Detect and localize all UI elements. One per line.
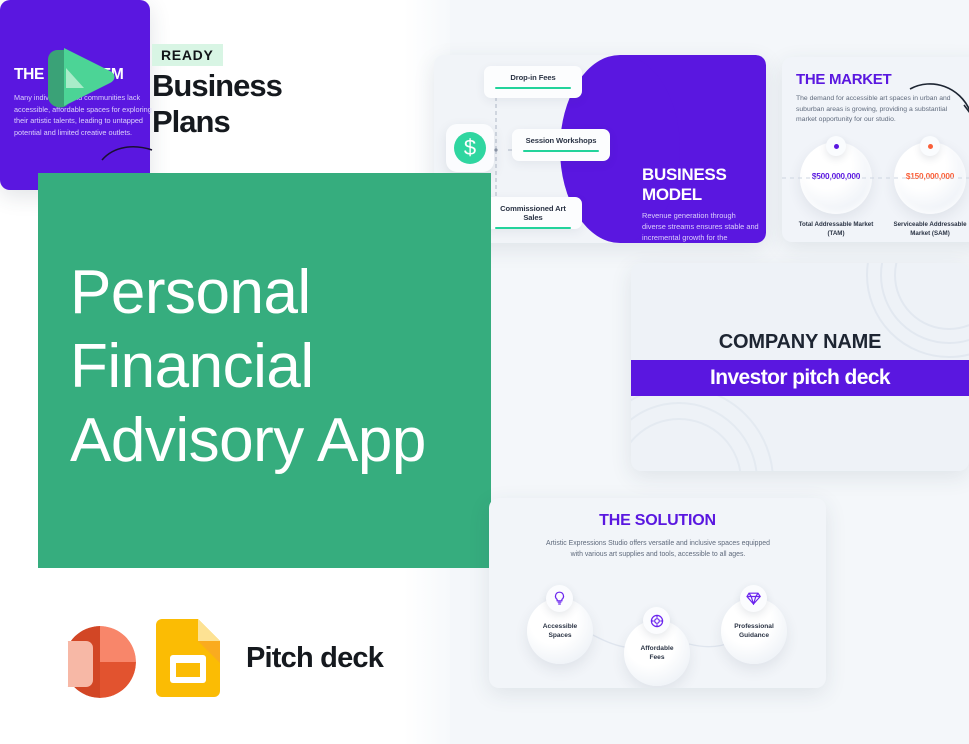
curved-arrow-icon — [908, 75, 969, 125]
business-model-item[interactable]: Session Workshops — [512, 129, 610, 161]
powerpoint-icon[interactable]: P — [42, 614, 134, 702]
underline-bar — [523, 150, 599, 152]
brand-logo[interactable]: READY Business Plans — [40, 36, 340, 120]
slide-solution[interactable]: THE SOLUTION Artistic Expressions Studio… — [489, 498, 826, 688]
format-label: Pitch deck — [246, 642, 383, 675]
node-label: Affordable Fees — [641, 644, 674, 663]
dollar-icon: $ — [454, 132, 486, 164]
solution-node-accessible-spaces[interactable]: Accessible Spaces — [527, 598, 593, 664]
slide-market[interactable]: THE MARKET The demand for accessible art… — [782, 57, 969, 242]
ready-badge: READY — [152, 44, 223, 66]
business-model-item-label: Drop-in Fees — [493, 73, 573, 82]
gauge-dot-badge — [826, 136, 846, 156]
hero-block: Personal Financial Advisory App — [38, 173, 491, 568]
brand-name: Business Plans — [152, 68, 340, 140]
google-slides-icon[interactable] — [156, 619, 220, 697]
underline-bar — [495, 227, 571, 229]
diamond-icon — [740, 585, 767, 612]
underline-bar — [495, 87, 571, 89]
market-caption: Total Addressable Market (TAM) — [790, 220, 882, 238]
gauge-dot — [928, 144, 933, 149]
brand-logo-text: READY Business Plans — [110, 44, 340, 140]
market-connector-line — [782, 175, 969, 181]
business-model-title: BUSINESS MODEL — [642, 165, 762, 205]
node-label: Accessible Spaces — [543, 622, 577, 641]
business-model-item-label: Commissioned Art Sales — [493, 204, 573, 222]
page-title: Personal Financial Advisory App — [70, 256, 426, 478]
business-model-item[interactable]: Commissioned Art Sales — [484, 197, 582, 229]
gauge-dot — [834, 144, 839, 149]
investor-pitch-label: Investor pitch deck — [710, 366, 890, 390]
node-label: Professional Guidance — [734, 622, 774, 641]
curved-arrow-icon — [100, 140, 160, 170]
investor-pitch-band: Investor pitch deck — [631, 360, 969, 396]
business-model-item[interactable]: Drop-in Fees — [484, 66, 582, 98]
lightbulb-icon — [546, 585, 573, 612]
business-model-body: Revenue generation through diverse strea… — [642, 210, 760, 243]
market-caption: Serviceable Addressable Market (SAM) — [884, 220, 969, 238]
green-play-logo-icon — [40, 38, 118, 116]
target-icon — [643, 607, 670, 634]
company-name: COMPANY NAME — [631, 331, 969, 354]
format-row: P Pitch deck — [42, 612, 383, 704]
poster-canvas: BUSINESS MODEL Revenue generation throug… — [0, 0, 969, 744]
powerpoint-letter: P — [51, 652, 77, 678]
slide-company-name[interactable]: COMPANY NAME Investor pitch deck — [631, 263, 969, 471]
solution-node-affordable-fees[interactable]: Affordable Fees — [624, 620, 690, 686]
dollar-icon-tile: $ — [446, 124, 494, 172]
market-title: THE MARKET — [796, 71, 891, 88]
solution-node-professional-guidance[interactable]: Professional Guidance — [721, 598, 787, 664]
gauge-dot-badge — [920, 136, 940, 156]
business-model-item-label: Session Workshops — [521, 136, 601, 145]
